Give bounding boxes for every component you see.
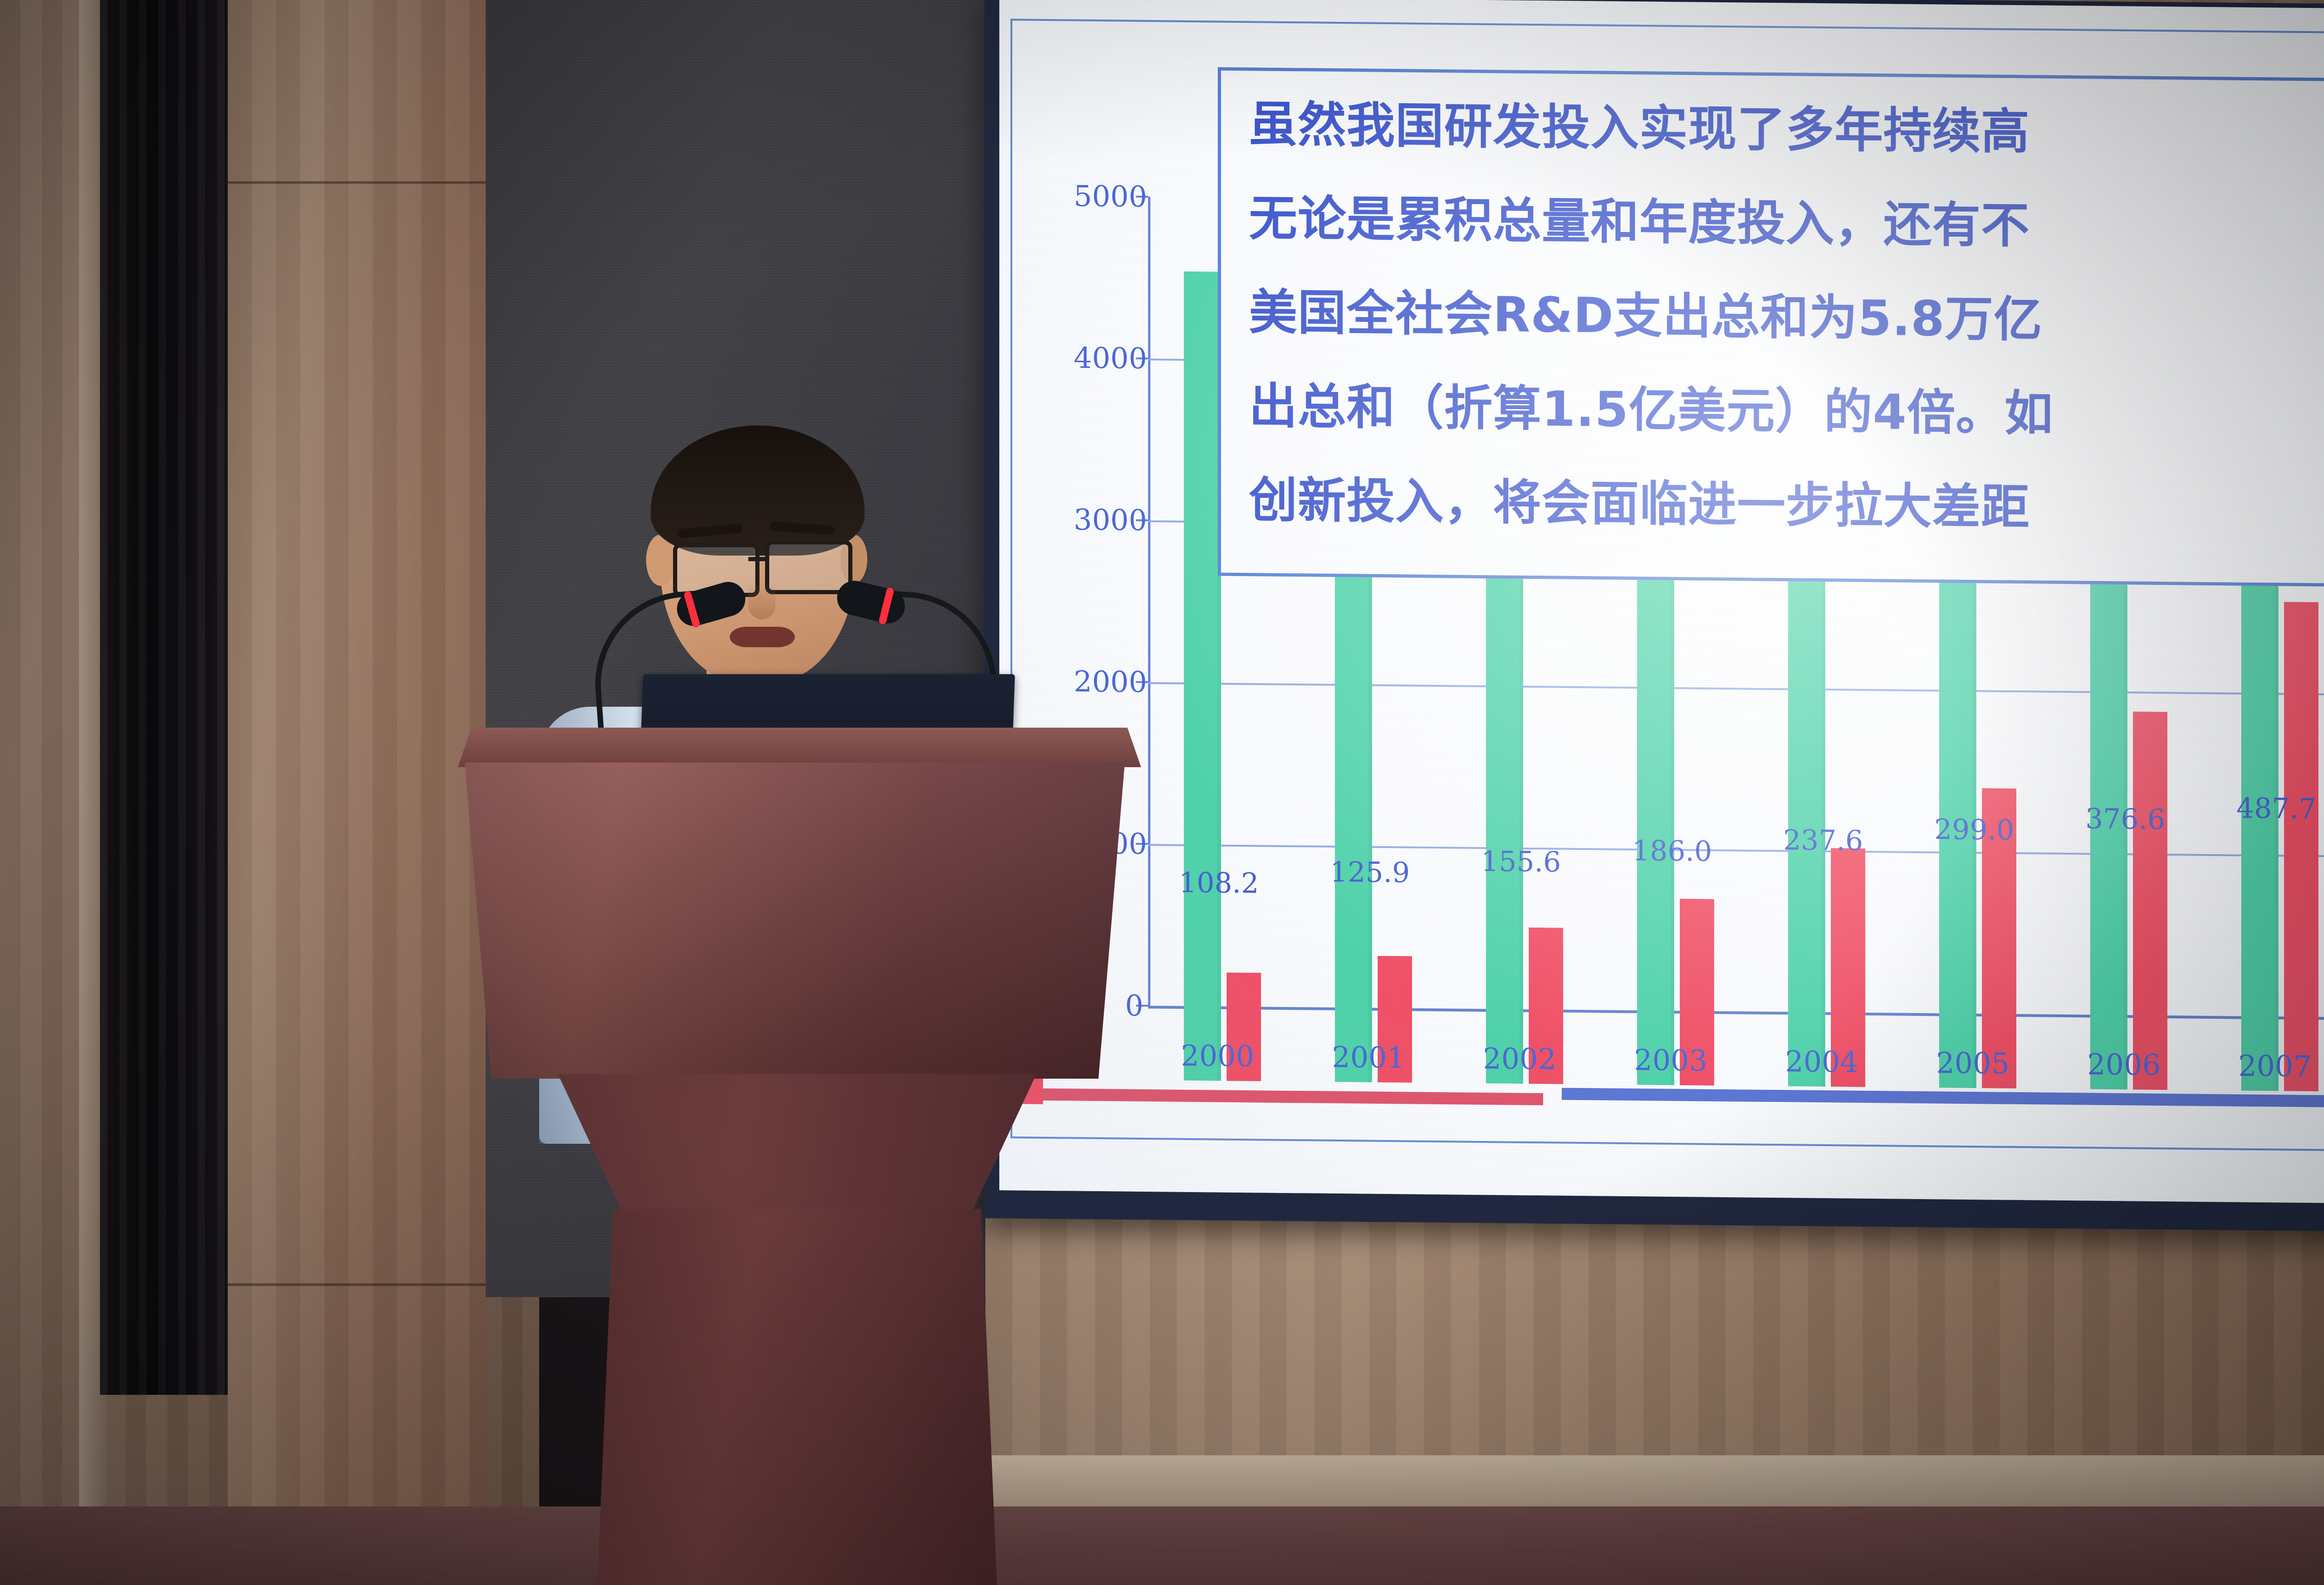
bar-red — [2284, 602, 2318, 1091]
x-tick-label: 2005 — [1936, 1046, 2010, 1081]
eyeglasses-bridge — [748, 557, 768, 561]
y-tick-label: 4000 — [1074, 341, 1143, 375]
wood-panel-seam-lower — [228, 1283, 488, 1286]
x-tick-label: 2007 — [2238, 1049, 2312, 1084]
overlay-line-2: 无论是累积总量和年度投入，还有不 — [1249, 179, 2030, 256]
podium-base — [597, 1209, 997, 1585]
y-tick-label: 5000 — [1074, 179, 1143, 213]
x-tick-label: 2004 — [1785, 1044, 1859, 1079]
bar-red — [2133, 712, 2167, 1090]
overlay-line-4: 出总和（折算1.5亿美元）的4倍。如 — [1249, 366, 2053, 444]
podium-top-surface — [458, 728, 1141, 767]
baseboard — [985, 1455, 2324, 1511]
gridline — [1148, 682, 2324, 696]
nose — [748, 582, 775, 619]
bar-data-label: 376.6 — [2086, 802, 2166, 836]
slide-text-overlay: 虽然我国研发投入实现了多年持续高 无论是累积总量和年度投入，还有不 美国全社会R… — [1218, 67, 2324, 587]
overlay-line-5: 创新投入，将会面临进一步拉大差距 — [1249, 460, 2030, 538]
wood-panel-seam — [228, 181, 488, 184]
podium-front-panel — [465, 763, 1125, 1079]
floor — [0, 1506, 2324, 1585]
bar-data-label: 299.0 — [1934, 813, 2014, 847]
bar-data-label: 237.6 — [1783, 824, 1863, 857]
y-tick-label: 2000 — [1074, 664, 1143, 699]
x-tick-label: 2003 — [1634, 1043, 1708, 1078]
x-tick-label: 2006 — [2087, 1047, 2161, 1082]
y-tick-label: 3000 — [1074, 503, 1143, 537]
eyeglasses-lens-right — [765, 540, 852, 594]
x-tick-label: 2001 — [1332, 1040, 1406, 1075]
bar-data-label: 125.9 — [1330, 856, 1410, 889]
bar-green — [1184, 272, 1221, 1081]
x-tick-label: 2002 — [1483, 1041, 1557, 1076]
y-axis — [1148, 197, 1150, 1006]
x-tick-label: 2000 — [1181, 1039, 1254, 1074]
projection-screen: 中美R&D经费支 500040003000200010000 108.2125.… — [999, 0, 2324, 1204]
bar-data-label: 487.7 — [2237, 792, 2317, 826]
overlay-line-3: 美国全社会R&D支出总和为5.8万亿 — [1249, 272, 2042, 350]
overlay-line-1: 虽然我国研发投入实现了多年持续高 — [1249, 85, 2030, 162]
bar-data-label: 108.2 — [1179, 867, 1259, 900]
mouth — [730, 627, 795, 647]
presentation-slide: 中美R&D经费支 500040003000200010000 108.2125.… — [999, 0, 2324, 1204]
bar-data-label: 186.0 — [1632, 835, 1712, 868]
presentation-photo: 中美R&D经费支 500040003000200010000 108.2125.… — [0, 0, 2324, 1585]
wood-panel-column — [228, 0, 488, 1585]
bar-data-label: 155.6 — [1481, 845, 1561, 879]
